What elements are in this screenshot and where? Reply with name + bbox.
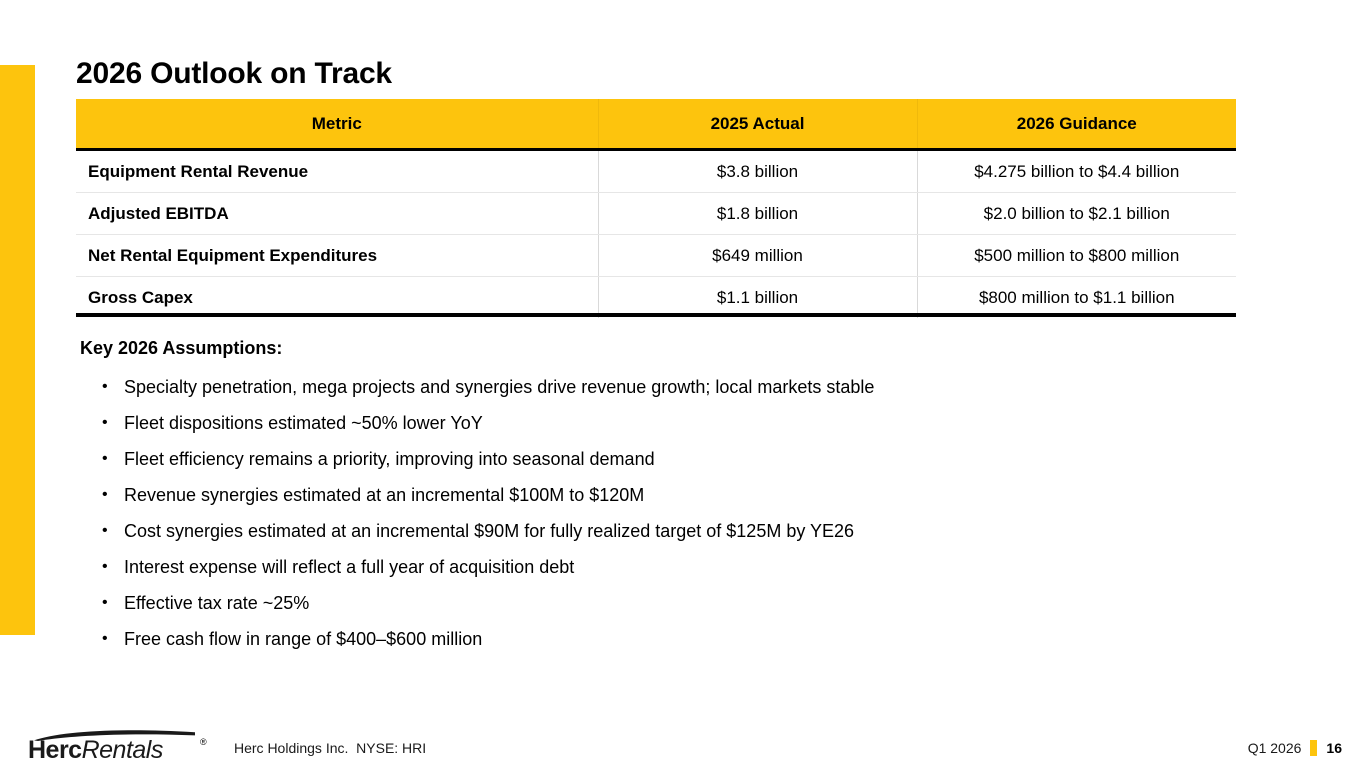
list-item: • Fleet efficiency remains a priority, i…	[80, 441, 1260, 477]
footer-page-number: 16	[1326, 738, 1342, 758]
guidance-table: Metric 2025 Actual 2026 Guidance Equipme…	[76, 99, 1236, 318]
table-row: Adjusted EBITDA $1.8 billion $2.0 billio…	[76, 193, 1236, 235]
table-cell-guidance: $500 million to $800 million	[917, 235, 1236, 277]
list-item: • Specialty penetration, mega projects a…	[80, 369, 1260, 405]
assumptions-section: Key 2026 Assumptions: • Specialty penetr…	[80, 335, 1260, 657]
list-item-text: Fleet efficiency remains a priority, imp…	[124, 441, 1260, 477]
table-cell-actual: $1.8 billion	[598, 193, 917, 235]
table-row: Gross Capex $1.1 billion $800 million to…	[76, 277, 1236, 319]
table-cell-actual: $1.1 billion	[598, 277, 917, 319]
table-bottom-rule	[76, 313, 1236, 317]
bullet-icon: •	[80, 405, 124, 441]
herc-rentals-logo: HercRentals ®	[28, 729, 206, 761]
list-item: • Interest expense will reflect a full y…	[80, 549, 1260, 585]
list-item-text: Fleet dispositions estimated ~50% lower …	[124, 405, 1260, 441]
list-item-text: Revenue synergies estimated at an increm…	[124, 477, 1260, 513]
left-accent-bar	[0, 65, 35, 635]
bullet-icon: •	[80, 441, 124, 477]
list-item-text: Interest expense will reflect a full yea…	[124, 549, 1260, 585]
bullet-icon: •	[80, 369, 124, 405]
table-cell-guidance: $800 million to $1.1 billion	[917, 277, 1236, 319]
footer-separator-mark	[1310, 740, 1317, 756]
table-cell-metric: Equipment Rental Revenue	[76, 150, 598, 193]
bullet-icon: •	[80, 513, 124, 549]
bullet-icon: •	[80, 621, 124, 657]
list-item: • Revenue synergies estimated at an incr…	[80, 477, 1260, 513]
list-item-text: Effective tax rate ~25%	[124, 585, 1260, 621]
table-cell-actual: $3.8 billion	[598, 150, 917, 193]
list-item: • Fleet dispositions estimated ~50% lowe…	[80, 405, 1260, 441]
table-cell-guidance: $4.275 billion to $4.4 billion	[917, 150, 1236, 193]
table-header-metric: Metric	[76, 99, 598, 150]
table-header-2026-guidance: 2026 Guidance	[917, 99, 1236, 150]
table-cell-metric: Net Rental Equipment Expenditures	[76, 235, 598, 277]
list-item-text: Free cash flow in range of $400–$600 mil…	[124, 621, 1260, 657]
table-cell-metric: Gross Capex	[76, 277, 598, 319]
table-header-row: Metric 2025 Actual 2026 Guidance	[76, 99, 1236, 150]
list-item-text: Cost synergies estimated at an increment…	[124, 513, 1260, 549]
list-item-text: Specialty penetration, mega projects and…	[124, 369, 1260, 405]
table-cell-metric: Adjusted EBITDA	[76, 193, 598, 235]
bullet-icon: •	[80, 549, 124, 585]
bullet-icon: •	[80, 585, 124, 621]
table-row: Net Rental Equipment Expenditures $649 m…	[76, 235, 1236, 277]
footer-company-name: Herc Holdings Inc. NYSE: HRI	[234, 738, 426, 758]
table-header-2025-actual: 2025 Actual	[598, 99, 917, 150]
logo-wordmark: HercRentals	[28, 736, 163, 764]
logo-text-rentals: Rentals	[82, 736, 163, 764]
list-item: • Effective tax rate ~25%	[80, 585, 1260, 621]
registered-trademark-icon: ®	[200, 737, 207, 747]
list-item: • Cost synergies estimated at an increme…	[80, 513, 1260, 549]
bullet-icon: •	[80, 477, 124, 513]
list-item: • Free cash flow in range of $400–$600 m…	[80, 621, 1260, 657]
table-row: Equipment Rental Revenue $3.8 billion $4…	[76, 150, 1236, 193]
assumptions-heading: Key 2026 Assumptions:	[80, 335, 1260, 361]
table-cell-guidance: $2.0 billion to $2.1 billion	[917, 193, 1236, 235]
logo-text-herc: Herc	[28, 736, 82, 764]
footer-right-group: Q1 2026 16	[1248, 738, 1342, 758]
footer-period: Q1 2026	[1248, 738, 1302, 758]
page-title: 2026 Outlook on Track	[76, 56, 392, 92]
table-cell-actual: $649 million	[598, 235, 917, 277]
